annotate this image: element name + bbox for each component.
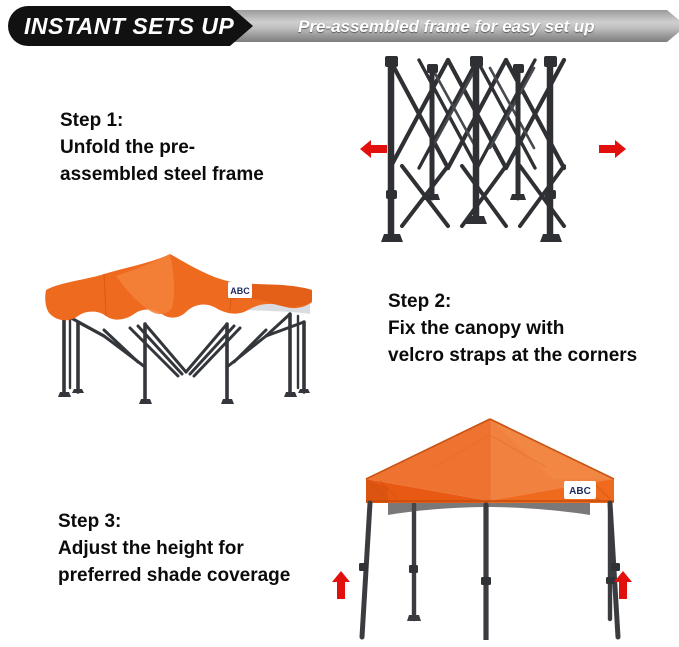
folded-steel-frame-illustration xyxy=(372,48,597,253)
header-badge-label: INSTANT SETS UP xyxy=(24,13,234,40)
canopy-logo-patch: ABC xyxy=(228,282,252,298)
arrow-left-frame-icon xyxy=(358,138,388,165)
step-1-caption: Step 1: Unfold the pre- assembled steel … xyxy=(60,107,264,188)
instruction-graphic: INSTANT SETS UP Pre-assembled frame for … xyxy=(0,0,679,647)
canopy-draped-illustration: ABC xyxy=(42,252,327,407)
step-3-caption: Step 3: Adjust the height for preferred … xyxy=(58,508,290,589)
assembled-canopy-illustration: ABC xyxy=(322,405,647,640)
arrow-right-frame-icon xyxy=(598,138,628,165)
header-tagline-label: Pre-assembled frame for easy set up xyxy=(298,17,595,37)
arrow-up-right-icon xyxy=(612,570,634,605)
svg-text:ABC: ABC xyxy=(569,486,591,497)
header-banner: INSTANT SETS UP Pre-assembled frame for … xyxy=(0,6,679,46)
arrow-up-left-icon xyxy=(330,570,352,605)
canopy-logo-badge: ABC xyxy=(564,481,596,499)
svg-text:ABC: ABC xyxy=(230,286,250,296)
step-2-caption: Step 2: Fix the canopy with velcro strap… xyxy=(388,288,637,369)
